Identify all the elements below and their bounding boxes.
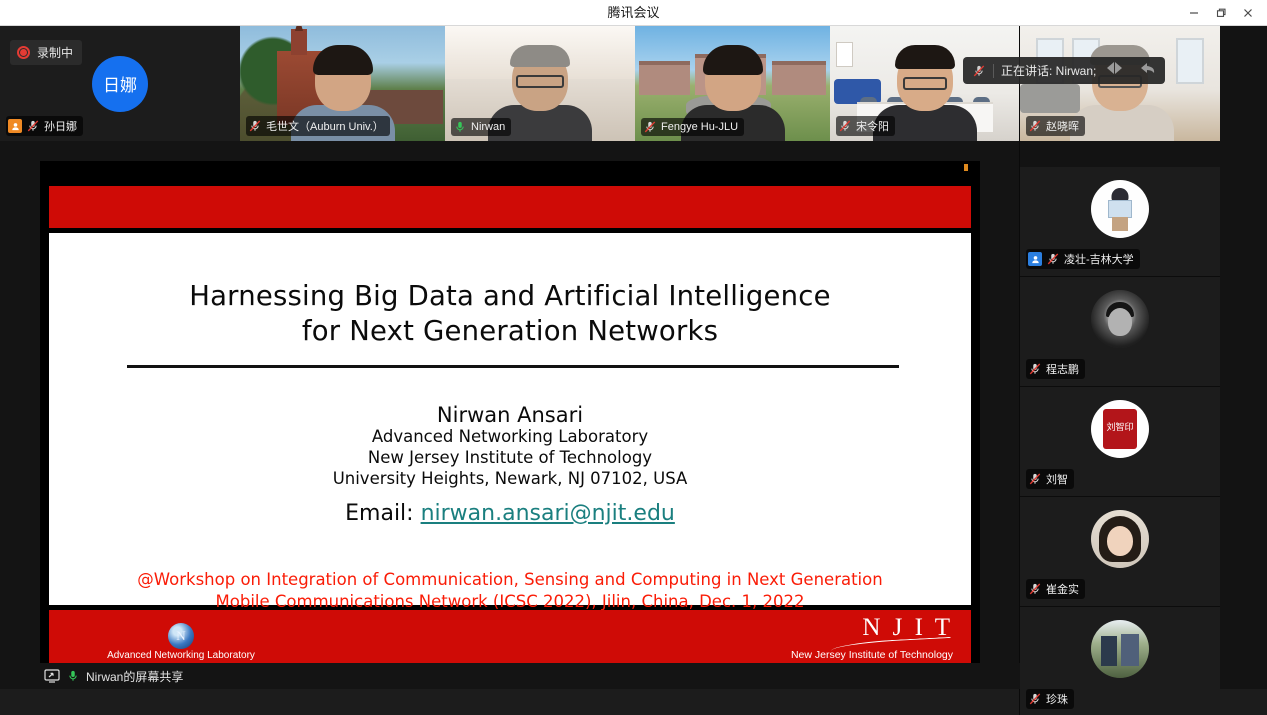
affiliation-line-2: New Jersey Institute of Technology	[49, 448, 971, 469]
participant-name: 程志鹏	[1046, 361, 1079, 377]
avatar	[1091, 620, 1149, 678]
participant-nametag: 刘智	[1026, 469, 1074, 489]
participant-cell[interactable]: 珍珠	[1020, 607, 1220, 715]
participant-name: 崔金实	[1046, 581, 1079, 597]
screen-share-stage[interactable]: Harnessing Big Data and Artificial Intel…	[0, 141, 1020, 689]
participant-cell[interactable]: 崔金实	[1020, 497, 1220, 607]
rail-divider	[1019, 26, 1020, 715]
participant-nametag: 宋令阳	[836, 116, 895, 136]
window-title: 腾讯会议	[0, 0, 1267, 26]
mic-muted-icon	[248, 119, 262, 133]
video-tile[interactable]: 毛世文（Auburn Univ.）	[240, 26, 445, 141]
mic-muted-icon	[1028, 692, 1042, 706]
host-icon	[8, 119, 22, 133]
recording-label: 录制中	[37, 44, 73, 61]
affiliation-line-3: University Heights, Newark, NJ 07102, US…	[49, 469, 971, 490]
mic-muted-icon	[26, 119, 40, 133]
mic-muted-icon	[972, 64, 986, 78]
email-label: Email:	[345, 501, 413, 526]
participant-nametag: 凌壮-吉林大学	[1026, 249, 1140, 269]
slide-top-bar	[49, 186, 971, 228]
avatar: 日娜	[92, 56, 148, 112]
slide-marker-dot	[964, 164, 968, 171]
mic-active-icon	[453, 120, 467, 134]
participant-cell[interactable]: 凌壮-吉林大学	[1020, 167, 1220, 277]
screen-share-icon	[44, 669, 60, 683]
record-dot-icon	[17, 46, 30, 59]
avatar: 刘智印	[1091, 400, 1149, 458]
participant-rail[interactable]: 凌壮-吉林大学 程志鹏 刘智印	[1020, 167, 1220, 715]
cohost-icon	[1028, 252, 1042, 266]
meeting-app: 录制中 日娜 孙日娜	[0, 26, 1267, 689]
slide-footer-right: N J I T New Jersey Institute of Technolo…	[791, 615, 953, 661]
mic-muted-icon	[1028, 362, 1042, 376]
mic-muted-icon	[1028, 582, 1042, 596]
njit-swoosh-icon	[791, 640, 953, 649]
mic-muted-icon	[1046, 252, 1060, 266]
participant-name: 赵晓晖	[1046, 118, 1079, 134]
participant-cell[interactable]: 刘智印 刘智	[1020, 387, 1220, 497]
participant-nametag: 毛世文（Auburn Univ.）	[246, 116, 390, 136]
slide-divider	[127, 365, 899, 368]
participant-name: Nirwan	[471, 121, 505, 133]
active-speaker-label: 正在讲话: Nirwan;	[1001, 62, 1096, 79]
participant-nametag: 珍珠	[1026, 689, 1074, 709]
participant-nametag: Nirwan	[451, 118, 511, 136]
participant-nametag: 孙日娜	[6, 116, 83, 136]
active-speaker-toast[interactable]: 正在讲话: Nirwan;	[963, 57, 1165, 84]
participant-name: Fengye Hu-JLU	[661, 121, 738, 133]
restore-button[interactable]	[1207, 0, 1234, 26]
mic-muted-icon	[1028, 472, 1042, 486]
mic-muted-icon	[1028, 119, 1042, 133]
slide-footer-bar: N Advanced Networking Laboratory N J I T…	[49, 610, 971, 664]
participant-nametag: 赵晓晖	[1026, 116, 1085, 136]
slide-footer-left: N Advanced Networking Laboratory	[71, 623, 291, 661]
participant-name: 孙日娜	[44, 118, 77, 134]
participant-name: 宋令阳	[856, 118, 889, 134]
presentation-slide: Harnessing Big Data and Artificial Intel…	[40, 161, 980, 669]
share-status-label: Nirwan的屏幕共享	[86, 668, 183, 685]
mic-muted-icon	[838, 119, 852, 133]
video-tile[interactable]: Nirwan	[445, 26, 635, 141]
slide-author-block: Nirwan Ansari Advanced Networking Labora…	[49, 403, 971, 490]
participant-nametag: 崔金实	[1026, 579, 1085, 599]
collapse-chevron-icon[interactable]	[1103, 61, 1133, 80]
video-filmstrip: 日娜 孙日娜	[0, 26, 1020, 141]
participant-name: 凌壮-吉林大学	[1064, 251, 1134, 267]
minimize-button[interactable]	[1180, 0, 1207, 26]
video-tile[interactable]: Fengye Hu-JLU	[635, 26, 830, 141]
mic-muted-icon	[643, 120, 657, 134]
participant-name: 珍珠	[1046, 691, 1068, 707]
slide-venue: @Workshop on Integration of Communicatio…	[89, 569, 931, 613]
window-titlebar: 腾讯会议	[0, 0, 1267, 26]
mic-active-icon	[66, 669, 80, 683]
slide-email-row: Email: nirwan.ansari@njit.edu	[49, 501, 971, 526]
back-arrow-icon[interactable]	[1140, 61, 1156, 80]
participant-name: 毛世文（Auburn Univ.）	[266, 118, 384, 134]
email-link[interactable]: nirwan.ansari@njit.edu	[421, 501, 675, 526]
slide-title: Harnessing Big Data and Artificial Intel…	[49, 279, 971, 349]
affiliation-line-1: Advanced Networking Laboratory	[49, 427, 971, 448]
avatar	[1091, 510, 1149, 568]
window-controls	[1180, 0, 1261, 26]
participant-nametag: Fengye Hu-JLU	[641, 118, 744, 136]
avatar	[1091, 290, 1149, 348]
slide-content: Harnessing Big Data and Artificial Intel…	[49, 233, 971, 605]
author-name: Nirwan Ansari	[49, 403, 971, 427]
participant-nametag: 程志鹏	[1026, 359, 1085, 379]
avatar	[1091, 180, 1149, 238]
participant-cell[interactable]: 程志鹏	[1020, 277, 1220, 387]
anl-logo-icon: N	[168, 623, 194, 649]
njit-logo: N J I T	[791, 615, 953, 640]
share-status-bar: Nirwan的屏幕共享	[0, 663, 1020, 689]
close-button[interactable]	[1234, 0, 1261, 26]
recording-indicator[interactable]: 录制中	[10, 40, 82, 65]
participant-name: 刘智	[1046, 471, 1068, 487]
footer-left-label: Advanced Networking Laboratory	[71, 650, 291, 661]
